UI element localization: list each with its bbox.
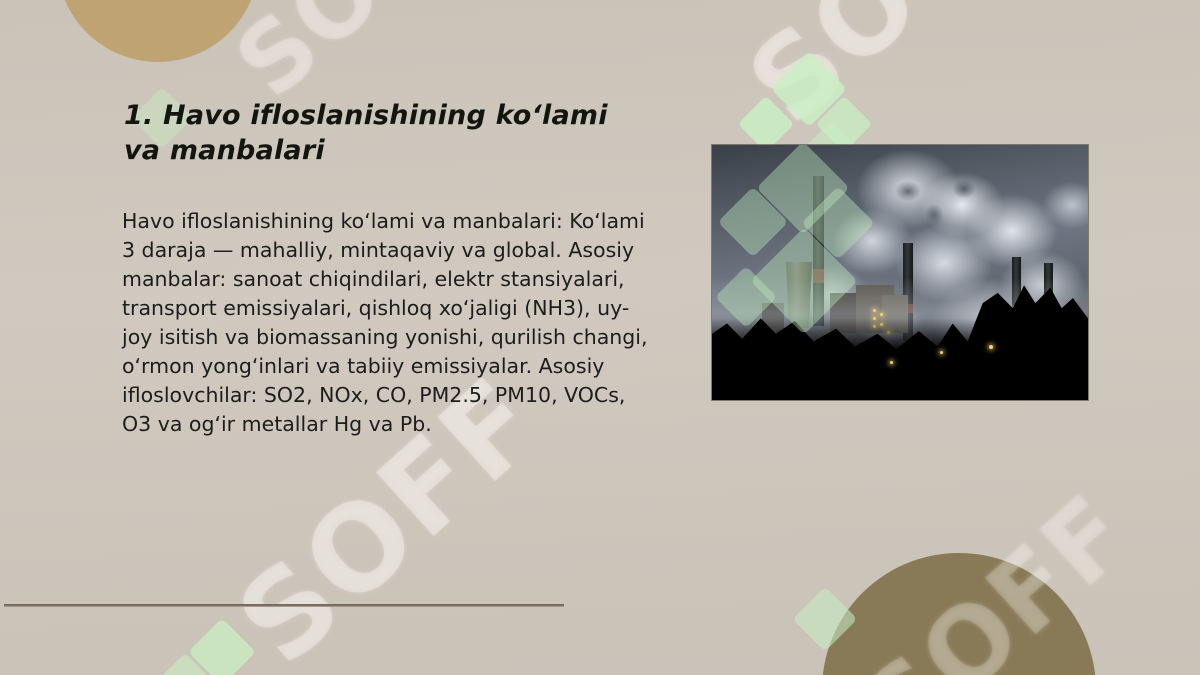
plant-light — [989, 345, 993, 349]
photo-foreground-shadow — [712, 145, 1088, 400]
green-logo-mark-icon — [161, 653, 209, 675]
green-logo-mark-icon — [816, 96, 873, 153]
plant-light — [940, 351, 943, 354]
slide-body-text: Havo ifloslanishining ko‘lami va manbala… — [122, 207, 652, 440]
footer-divider — [4, 604, 564, 607]
green-logo-mark-icon — [771, 51, 847, 127]
decorative-circle-top-left — [57, 0, 259, 62]
slide-canvas: SO SO SOFF SOFF 1. Havo ifloslanishining… — [0, 0, 1200, 675]
green-logo-mark-icon — [738, 96, 795, 153]
watermark-top-right: SO — [725, 0, 946, 149]
green-logo-mark-icon — [188, 618, 256, 675]
plant-light — [890, 361, 893, 364]
slide-title: 1. Havo ifloslanishining ko‘lami va manb… — [124, 98, 644, 168]
decorative-circle-bottom-right — [822, 553, 1096, 675]
pollution-photo — [712, 145, 1088, 400]
